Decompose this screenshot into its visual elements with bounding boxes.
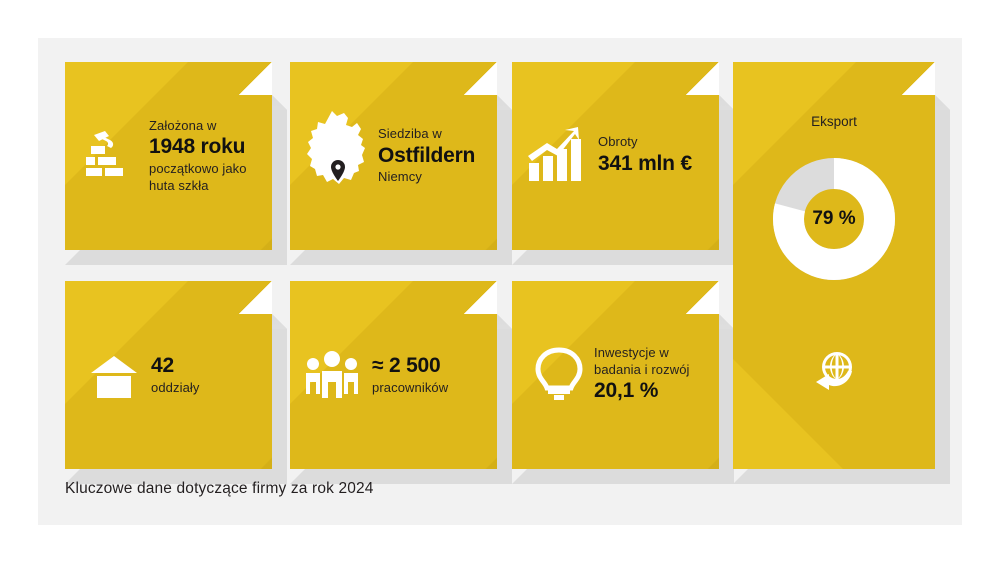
globe-arrow-icon	[810, 350, 858, 394]
card-drop-shadow-right	[272, 314, 287, 484]
infographic-caption: Kluczowe dane dotyczące firmy za rok 202…	[65, 480, 374, 498]
card-drop-shadow-bottom	[290, 250, 512, 265]
card-line: badania i rozwój	[594, 362, 690, 379]
folded-corner	[902, 62, 935, 95]
card-line: Siedziba w	[378, 126, 475, 143]
house-icon	[89, 350, 139, 400]
card-drop-shadow-bottom	[512, 250, 734, 265]
card-line: Założona w	[149, 118, 247, 135]
card-research-development: Inwestycje w badania i rozwój 20,1 %	[512, 281, 719, 469]
card-text-block: Inwestycje w badania i rozwój 20,1 %	[594, 345, 690, 405]
bar-chart-arrow-up-icon	[524, 126, 590, 186]
export-donut-chart: 79 %	[773, 158, 895, 280]
bricks-trowel-icon	[79, 126, 141, 186]
card-text-block: Obroty 341 mln €	[598, 134, 692, 177]
card-line: 341 mln €	[598, 152, 692, 177]
germany-map-pin-icon	[300, 108, 374, 204]
export-value-label: 79 %	[773, 158, 895, 280]
card-drop-shadow-right	[497, 314, 512, 484]
card-line: Obroty	[598, 134, 692, 151]
card-line: 1948 roku	[149, 135, 247, 160]
card-line: 20,1 %	[594, 379, 690, 404]
card-line: początkowo jako	[149, 161, 247, 178]
card-text-block: Siedziba w Ostfildern Niemcy	[378, 126, 475, 186]
card-line: Inwestycje w	[594, 345, 690, 362]
export-title: Eksport	[733, 114, 935, 129]
card-drop-shadow-right	[935, 95, 950, 484]
infographic-root: Założona w 1948 roku początkowo jako hut…	[0, 0, 1000, 562]
card-line: Niemcy	[378, 169, 475, 186]
card-drop-shadow-right	[719, 314, 734, 484]
card-line: 42	[151, 354, 200, 379]
card-drop-shadow-right	[719, 95, 734, 265]
card-drop-shadow-bottom	[65, 250, 287, 265]
card-line: Ostfildern	[378, 144, 475, 169]
card-drop-shadow-bottom	[733, 469, 950, 484]
card-employees: ≈ 2 500 pracowników	[290, 281, 497, 469]
card-text-block: Założona w 1948 roku początkowo jako hut…	[149, 118, 247, 195]
card-founded: Założona w 1948 roku początkowo jako hut…	[65, 62, 272, 250]
card-revenue: Obroty 341 mln €	[512, 62, 719, 250]
card-line: ≈ 2 500	[372, 354, 448, 379]
people-group-icon	[304, 349, 360, 401]
card-text-block: 42 oddziały	[151, 353, 200, 396]
lightbulb-icon	[532, 343, 586, 407]
card-line: oddziały	[151, 380, 200, 397]
card-line: pracowników	[372, 380, 448, 397]
card-locations: 42 oddziały	[65, 281, 272, 469]
card-text-block: ≈ 2 500 pracowników	[372, 353, 448, 396]
card-drop-shadow-right	[497, 95, 512, 265]
card-headquarters: Siedziba w Ostfildern Niemcy	[290, 62, 497, 250]
card-drop-shadow-right	[272, 95, 287, 265]
card-drop-shadow-bottom	[512, 469, 734, 484]
card-export: Eksport 79 %	[733, 62, 935, 469]
card-line: huta szkła	[149, 178, 247, 195]
